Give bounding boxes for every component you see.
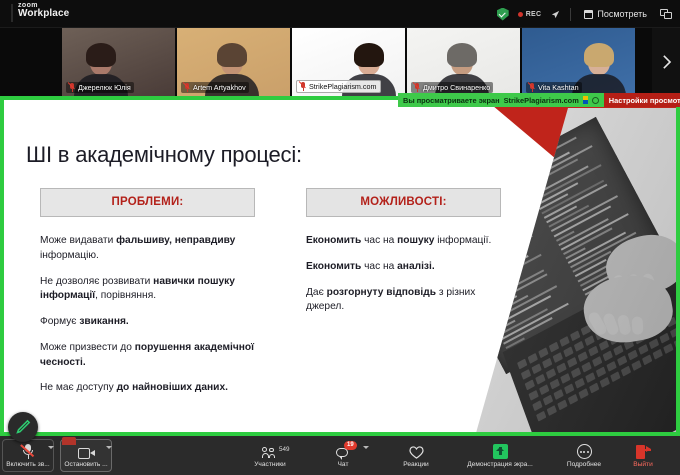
- chat-label: Чат: [338, 461, 349, 468]
- participant-hair: [584, 43, 614, 67]
- participant-hair: [217, 43, 247, 67]
- participants-button[interactable]: 549 Участники: [245, 444, 295, 468]
- pen-annotate-icon: [15, 419, 31, 435]
- slide-bullet: Не має доступу до найновіших даних.: [40, 381, 255, 396]
- participant-name-plate: Дмитро Свинаренко: [411, 82, 493, 93]
- share-notice-sharer: StrikePlagiarism.com: [504, 96, 579, 105]
- participant-tile[interactable]: Vita Kashtan: [522, 28, 635, 96]
- record-dot-icon: [518, 12, 523, 17]
- photo-overlay: [476, 108, 676, 432]
- slide-bullet: Може призвести до порушення академічної …: [40, 341, 255, 371]
- window-layout-icon[interactable]: [660, 9, 672, 20]
- participant-name-plate: Artem Artyakhov: [181, 82, 249, 93]
- reactions-label: Реакции: [403, 461, 428, 468]
- chat-unread-badge: 19: [344, 441, 357, 450]
- ukraine-flag-icon: [583, 96, 588, 104]
- view-options-label: Настройки просмотра: [609, 96, 680, 105]
- mute-toggle-label: Включить зв...: [6, 461, 49, 468]
- pin-arrow-icon[interactable]: [550, 9, 561, 20]
- participant-name: Vita Kashtan: [538, 83, 579, 92]
- slide-bullet: Не дозволяє розвивати навички пошуку інф…: [40, 275, 255, 305]
- chat-bubble-icon: 19: [336, 444, 350, 459]
- recording-indicator[interactable]: REC: [518, 11, 542, 18]
- share-screen-label: Демонстрация экра...: [467, 461, 533, 468]
- more-options-label: Подробнее: [567, 461, 601, 468]
- share-notice-text: Вы просматриваете экран: [403, 96, 500, 105]
- participant-name-plate: Vita Kashtan: [526, 82, 582, 93]
- slide-title: ШІ в академічному процесі:: [26, 142, 302, 168]
- people-icon: 549: [262, 444, 278, 459]
- shared-screen-frame: ШІ в академічному процесі: ПРОБЛЕМИ: Мож…: [0, 96, 680, 436]
- problems-bullets: Може видавати фальшиву, неправдиву інфор…: [40, 234, 255, 396]
- view-options-button[interactable]: Настройки просмотра: [604, 93, 680, 107]
- video-options-chevron-icon[interactable]: [106, 446, 112, 449]
- slide-bullet: Економить час на пошуку інформації.: [306, 234, 501, 249]
- chat-options-chevron-icon[interactable]: [363, 446, 369, 449]
- chevron-right-icon: [660, 54, 673, 70]
- mic-muted-icon: [529, 83, 535, 92]
- record-label: REC: [526, 11, 542, 18]
- brand-divider: [11, 4, 13, 22]
- leave-meeting-button[interactable]: Выйти: [618, 444, 668, 468]
- laptop-code-photo: [476, 108, 676, 432]
- slide-bullet: Економить час на аналізі.: [306, 260, 501, 275]
- participants-count: 549: [279, 446, 290, 453]
- calendar-icon: [584, 10, 593, 19]
- zoom-brand-logo: zoom Workplace: [18, 2, 69, 20]
- participant-hair: [86, 43, 116, 67]
- circle-chevron-icon[interactable]: [592, 97, 599, 104]
- presentation-slide: ШІ в академічному процесі: ПРОБЛЕМИ: Мож…: [4, 100, 676, 432]
- opportunities-bullets: Економить час на пошуку інформації.Еконо…: [306, 234, 501, 315]
- topbar-divider: [570, 8, 571, 21]
- participant-name: StrikePlagiarism.com: [309, 82, 377, 91]
- column-problems: ПРОБЛЕМИ: Може видавати фальшиву, неправ…: [40, 188, 255, 407]
- video-toggle-label: Остановить ...: [64, 461, 107, 468]
- participant-tile[interactable]: Artem Artyakhov: [177, 28, 290, 96]
- participant-tile[interactable]: Джерелюк Юлія: [62, 28, 175, 96]
- heart-icon: [409, 444, 424, 459]
- annotate-pen-button[interactable]: [8, 412, 38, 442]
- code-line: [529, 182, 546, 192]
- video-toggle-button[interactable]: Остановить ...: [61, 444, 111, 468]
- participant-tile[interactable]: StrikePlagiarism.com: [292, 28, 405, 96]
- video-sharing-indicator: [62, 437, 76, 445]
- reactions-button[interactable]: Реакции: [391, 444, 441, 468]
- leave-meeting-label: Выйти: [633, 461, 653, 468]
- meeting-toolbar: Включить зв... Остановить ... 549 Учас: [0, 436, 680, 475]
- participant-name-plate: StrikePlagiarism.com: [296, 80, 381, 93]
- participant-tile[interactable]: Дмитро Свинаренко: [407, 28, 520, 96]
- toolbar-right-group: Выйти: [618, 436, 668, 475]
- problems-header: ПРОБЛЕМИ:: [40, 188, 255, 217]
- participant-name: Дмитро Свинаренко: [423, 83, 490, 92]
- participant-video-strip: Джерелюк ЮліяArtem ArtyakhovStrikePlagia…: [0, 28, 680, 96]
- topbar-right-controls: REC Посмотреть: [497, 0, 672, 28]
- opportunities-header: МОЖЛИВОСТІ:: [306, 188, 501, 217]
- share-screen-icon: [493, 444, 508, 459]
- mic-muted-icon: [414, 83, 420, 92]
- brand-workplace-text: Workplace: [18, 9, 69, 20]
- toolbar-left-group: Включить зв... Остановить ...: [2, 436, 112, 475]
- audio-control-group: Включить зв...: [2, 439, 54, 472]
- participant-name: Джерелюк Юлія: [78, 83, 131, 92]
- participant-hair: [447, 43, 477, 67]
- slide-bullet: Формує звикання.: [40, 315, 255, 330]
- participant-name: Artem Artyakhov: [193, 83, 246, 92]
- ellipsis-circle-icon: [577, 444, 592, 459]
- video-camera-icon: [78, 444, 95, 459]
- leave-door-icon: [636, 444, 651, 459]
- share-screen-button[interactable]: Демонстрация экра...: [464, 444, 536, 468]
- mute-toggle-button[interactable]: Включить зв...: [3, 444, 53, 468]
- toolbar-center-group: 549 Участники 19 Чат: [245, 436, 609, 475]
- next-participants-button[interactable]: [652, 28, 680, 96]
- column-opportunities: МОЖЛИВОСТІ: Економить час на пошуку інфо…: [306, 188, 501, 326]
- view-button-label: Посмотреть: [597, 9, 647, 19]
- chat-button[interactable]: 19 Чат: [318, 444, 368, 468]
- mic-muted-icon: [69, 83, 75, 92]
- shield-check-icon[interactable]: [497, 8, 509, 21]
- slide-bullet: Дає розгорнуту відповідь з різних джерел…: [306, 286, 501, 316]
- mic-muted-icon: [184, 83, 190, 92]
- participants-label: Участники: [254, 461, 286, 468]
- mic-muted-icon: [22, 444, 34, 459]
- audio-options-chevron-icon[interactable]: [48, 446, 54, 449]
- screen-share-notice: Вы просматриваете экран StrikePlagiarism…: [398, 93, 680, 107]
- slide-bullet: Може видавати фальшиву, неправдиву інфор…: [40, 234, 255, 264]
- share-notice-left: Вы просматриваете экран StrikePlagiarism…: [398, 93, 604, 107]
- view-button[interactable]: Посмотреть: [580, 7, 651, 21]
- participant-hair: [354, 43, 384, 67]
- more-options-button[interactable]: Подробнее: [559, 444, 609, 468]
- participant-name-plate: Джерелюк Юлія: [66, 82, 134, 93]
- code-line: [520, 161, 542, 174]
- mic-muted-icon: [300, 82, 306, 91]
- window-title-bar: zoom Workplace REC Посмотреть: [0, 0, 680, 28]
